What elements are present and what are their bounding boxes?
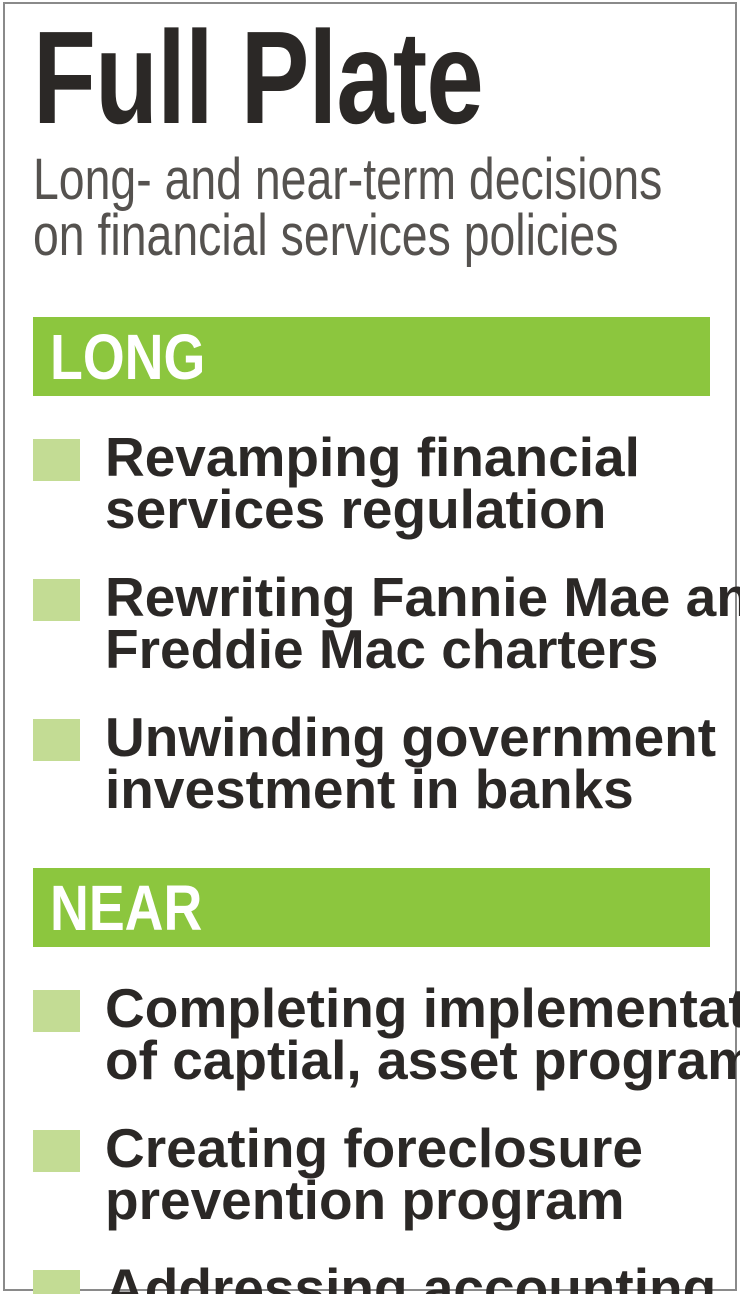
bullet-square-icon	[33, 439, 80, 481]
section-near: NEAR Completing implementation of captia…	[33, 815, 710, 1294]
list-item: Revamping financial services regulation	[33, 431, 710, 535]
bullet-square-icon	[33, 990, 80, 1032]
bullet-square-icon	[33, 1130, 80, 1172]
card-content: Full Plate Long- and near-term decisions…	[33, 0, 710, 1294]
list-item-line: Freddie Mac charters	[105, 623, 710, 675]
list-item-line: investment in banks	[105, 763, 710, 815]
bullet-square-icon	[33, 579, 80, 621]
list-item-line: Completing implementation	[105, 982, 710, 1034]
page-subtitle: Long- and near-term decisions on financi…	[33, 134, 710, 264]
subtitle-line-1: Long- and near-term decisions	[33, 152, 710, 208]
list-item: Creating foreclosure prevention program	[33, 1122, 710, 1226]
page-title: Full Plate	[33, 0, 561, 134]
list-item-line: Rewriting Fannie Mae and	[105, 571, 710, 623]
list-item-line: Creating foreclosure	[105, 1122, 710, 1174]
section-header-bar-long: LONG	[33, 317, 710, 396]
list-item: Unwinding government investment in banks	[33, 711, 710, 815]
subtitle-line-2: on financial services policies	[33, 208, 710, 264]
list-item: Rewriting Fannie Mae and Freddie Mac cha…	[33, 571, 710, 675]
list-item-text: Unwinding government investment in banks	[105, 711, 710, 815]
section-label-long: LONG	[50, 328, 205, 386]
list-item: Addressing accounting problems	[33, 1262, 710, 1294]
list-item-text: Revamping financial services regulation	[105, 431, 710, 535]
list-item-line: prevention program	[105, 1174, 710, 1226]
list-item: Completing implementation of captial, as…	[33, 982, 710, 1086]
list-item-line: of captial, asset programs	[105, 1034, 710, 1086]
section-label-near: NEAR	[50, 879, 202, 937]
list-item-line: Addressing accounting	[105, 1262, 710, 1294]
infographic-card: Full Plate Long- and near-term decisions…	[0, 0, 740, 1294]
list-item-line: Unwinding government	[105, 711, 710, 763]
list-item-line: services regulation	[105, 483, 710, 535]
list-item-text: Completing implementation of captial, as…	[105, 982, 710, 1086]
list-item-text: Rewriting Fannie Mae and Freddie Mac cha…	[105, 571, 710, 675]
list-item-text: Addressing accounting problems	[105, 1262, 710, 1294]
bullet-square-icon	[33, 719, 80, 761]
bullet-list-near: Completing implementation of captial, as…	[33, 982, 710, 1294]
bullet-square-icon	[33, 1270, 80, 1294]
section-header-bar-near: NEAR	[33, 868, 710, 947]
list-item-text: Creating foreclosure prevention program	[105, 1122, 710, 1226]
list-item-line: Revamping financial	[105, 431, 710, 483]
bullet-list-long: Revamping financial services regulation …	[33, 431, 710, 815]
section-long: LONG Revamping financial services regula…	[33, 264, 710, 815]
